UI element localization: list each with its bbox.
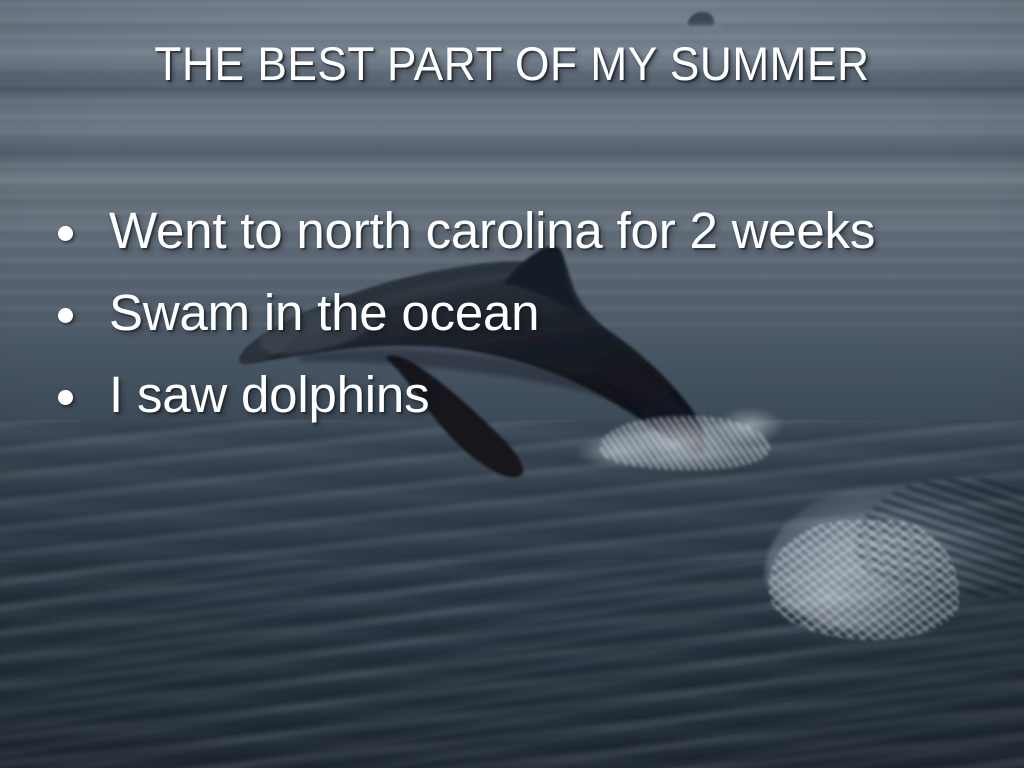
presentation-slide: THE BEST PART OF MY SUMMER Went to north… bbox=[0, 0, 1024, 768]
list-item: Swam in the ocean bbox=[58, 286, 1008, 344]
list-item: Went to north carolina for 2 weeks bbox=[58, 204, 1008, 262]
bullet-dot-icon bbox=[58, 308, 73, 323]
slide-title: THE BEST PART OF MY SUMMER bbox=[31, 40, 994, 87]
bullet-dot-icon bbox=[58, 226, 73, 241]
bullet-text: I saw dolphins bbox=[109, 368, 429, 422]
bullet-dot-icon bbox=[58, 390, 73, 405]
bullet-list: Went to north carolina for 2 weeks Swam … bbox=[58, 204, 1008, 450]
list-item: I saw dolphins bbox=[58, 368, 1008, 426]
bullet-text: Went to north carolina for 2 weeks bbox=[109, 204, 875, 258]
bullet-text: Swam in the ocean bbox=[109, 286, 539, 340]
